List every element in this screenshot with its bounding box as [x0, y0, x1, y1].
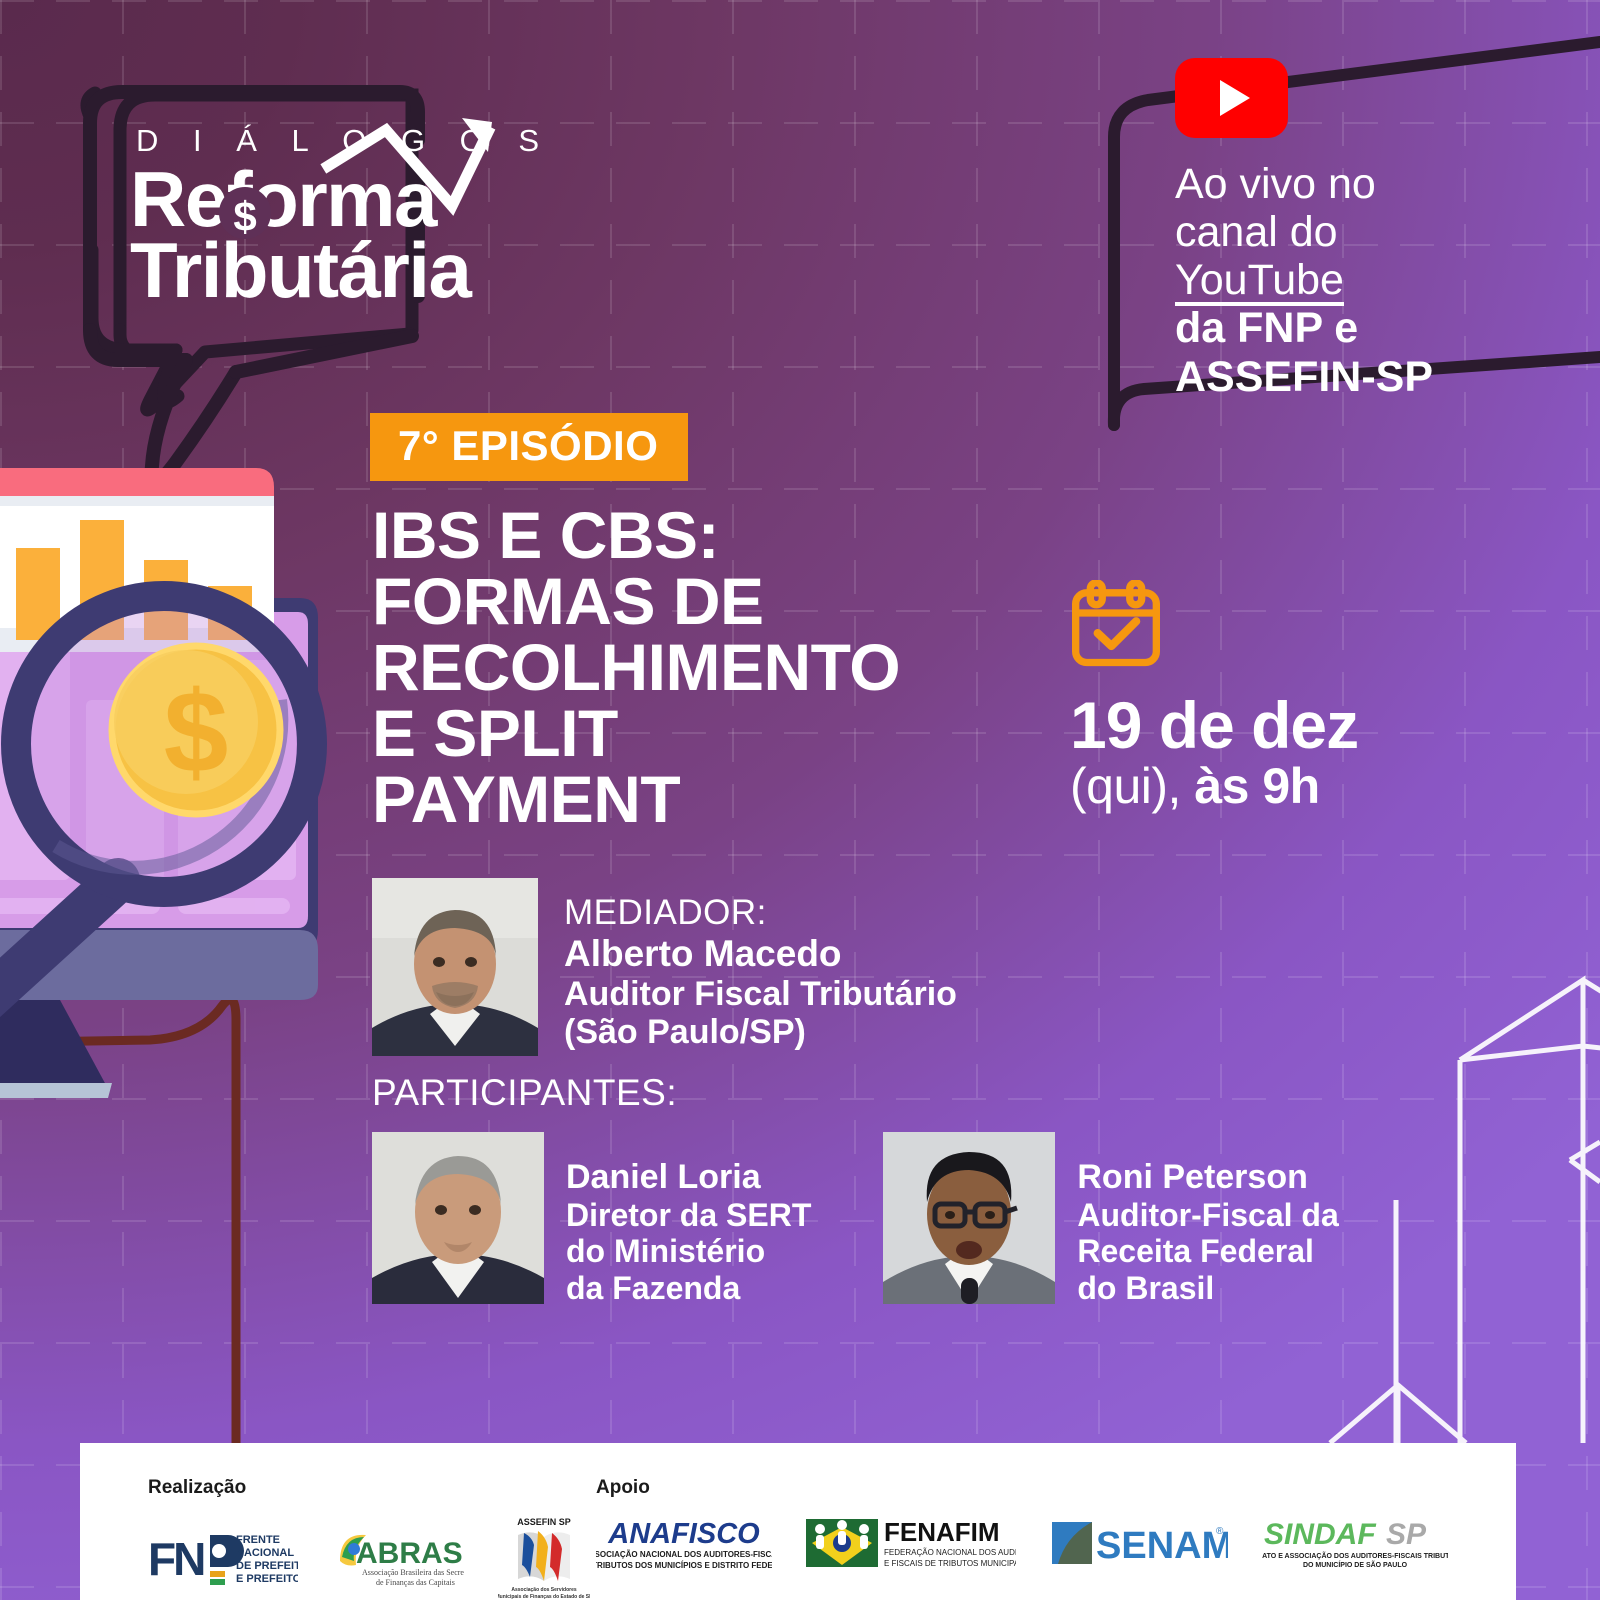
- participants-list: Daniel Loria Diretor da SERT do Ministér…: [372, 1132, 1339, 1306]
- apoio-label: Apoio: [596, 1477, 1448, 1499]
- calendar-check-icon: [1070, 580, 1162, 668]
- participant-role-1: Auditor-Fiscal da: [1077, 1197, 1338, 1233]
- title-line-2: FORMAS DE: [372, 568, 1032, 634]
- sindafsp-logo[interactable]: SINDAF SP SINDICATO E ASSOCIAÇÃO DOS AUD…: [1262, 1516, 1448, 1570]
- svg-text:DO MUNICÍPIO DE SÃO PAULO: DO MUNICÍPIO DE SÃO PAULO: [1303, 1560, 1408, 1569]
- list-item: Daniel Loria Diretor da SERT do Ministér…: [372, 1132, 811, 1306]
- svg-text:SINDICATO E ASSOCIAÇÃO DOS AUD: SINDICATO E ASSOCIAÇÃO DOS AUDITORES-FIS…: [1262, 1551, 1448, 1560]
- participant-text: Roni Peterson Auditor-Fiscal da Receita …: [1077, 1132, 1338, 1306]
- sponsor-footer: Realização FN FRENTE NACIONAL DE PREFEIT…: [80, 1443, 1516, 1600]
- svg-text:E FISCAIS DE TRIBUTOS MUNICIPA: E FISCAIS DE TRIBUTOS MUNICIPAIS: [884, 1559, 1016, 1568]
- play-triangle-icon: [1220, 80, 1250, 116]
- svg-text:SP: SP: [1386, 1518, 1427, 1551]
- participant-role-2: do Ministério: [566, 1233, 811, 1269]
- fnp-logo[interactable]: FN FRENTE NACIONAL DE PREFEITAS E PREFEI…: [148, 1527, 298, 1589]
- youtube-live-block[interactable]: Ao vivo no canal do YouTube da FNP e ASS…: [1175, 58, 1575, 401]
- svg-text:E PREFEITOS: E PREFEITOS: [236, 1573, 298, 1585]
- svg-text:ANAFISCO: ANAFISCO: [607, 1518, 760, 1550]
- youtube-text: Ao vivo no canal do YouTube da FNP e ASS…: [1175, 160, 1575, 401]
- svg-text:DE TRIBUTOS DOS MUNICÍPIOS E D: DE TRIBUTOS DOS MUNICÍPIOS E DISTRITO FE…: [596, 1561, 772, 1570]
- mediator-name: Alberto Macedo: [564, 933, 957, 975]
- event-time: às 9h: [1194, 758, 1319, 814]
- poster-canvas: $ D I Á L O G O S Reforma Tributária $ A…: [0, 0, 1600, 1600]
- participant-role-1: Diretor da SERT: [566, 1197, 811, 1233]
- event-date: 19 de dez: [1070, 691, 1490, 760]
- mediator-text: MEDIADOR: Alberto Macedo Auditor Fiscal …: [564, 878, 957, 1056]
- svg-text:ASSOCIAÇÃO NACIONAL DOS AUDITO: ASSOCIAÇÃO NACIONAL DOS AUDITORES-FISCAI…: [596, 1550, 772, 1559]
- yt-line-5: ASSEFIN-SP: [1175, 353, 1575, 401]
- avatar: [883, 1132, 1055, 1304]
- event-date-block: 19 de dez (qui), às 9h: [1070, 580, 1490, 813]
- assefin-sp-logo[interactable]: ASSEFIN SP Associação dos Servidores Mun…: [498, 1515, 590, 1600]
- participant-role-2: Receita Federal: [1077, 1233, 1338, 1269]
- participant-role-3: do Brasil: [1077, 1270, 1338, 1306]
- anafisco-logo[interactable]: ANAFISCO ASSOCIAÇÃO NACIONAL DOS AUDITOR…: [596, 1515, 772, 1571]
- event-time-row: (qui), às 9h: [1070, 760, 1490, 813]
- senam-logo[interactable]: SENAM ®: [1050, 1518, 1228, 1568]
- mediator-block: MEDIADOR: Alberto Macedo Auditor Fiscal …: [372, 878, 957, 1056]
- page-title: IBS E CBS: FORMAS DE RECOLHIMENTO E SPLI…: [372, 502, 1032, 832]
- svg-text:Associação dos Servidores: Associação dos Servidores: [511, 1587, 577, 1593]
- svg-text:ABRASF: ABRASF: [356, 1537, 464, 1570]
- svg-text:Associação Brasileira das Secr: Associação Brasileira das Secretarias: [362, 1568, 464, 1577]
- brand-kicker: D I Á L O G O S: [136, 125, 560, 156]
- realizacao-group: Realização FN FRENTE NACIONAL DE PREFEIT…: [148, 1477, 590, 1600]
- youtube-play-icon[interactable]: [1175, 58, 1288, 138]
- event-weekday: (qui),: [1070, 758, 1181, 814]
- brand-line-2: Tributária: [130, 233, 560, 308]
- daniel-loria-photo: [372, 1132, 544, 1304]
- avatar: [372, 1132, 544, 1304]
- apoio-group: Apoio ANAFISCO ASSOCIAÇÃO NACIONAL DOS A…: [596, 1477, 1448, 1571]
- participant-text: Daniel Loria Diretor da SERT do Ministér…: [566, 1132, 811, 1306]
- participant-name: Daniel Loria: [566, 1158, 811, 1197]
- title-line-4: E SPLIT: [372, 700, 1032, 766]
- alberto-macedo-photo: [372, 878, 538, 1056]
- svg-text:FN: FN: [148, 1533, 204, 1585]
- svg-text:Municipais de Finanças do Esta: Municipais de Finanças do Estado de SP: [498, 1594, 590, 1600]
- mediator-role-1: Auditor Fiscal Tributário: [564, 975, 957, 1014]
- svg-text:FRENTE: FRENTE: [236, 1534, 280, 1546]
- realizacao-label: Realização: [148, 1477, 590, 1499]
- title-line-5: PAYMENT: [372, 766, 1032, 832]
- fenafim-logo[interactable]: FENAFIM FEDERAÇÃO NACIONAL DOS AUDITORES…: [806, 1515, 1016, 1571]
- participants-label: PARTICIPANTES:: [372, 1072, 677, 1114]
- yt-line-4: da FNP e: [1175, 304, 1575, 352]
- yt-channel-link[interactable]: YouTube: [1175, 256, 1575, 304]
- brand-logo: D I Á L O G O S Reforma Tributária: [130, 125, 560, 308]
- mediator-role-2: (São Paulo/SP): [564, 1013, 957, 1052]
- realizacao-logos: FN FRENTE NACIONAL DE PREFEITAS E PREFEI…: [148, 1515, 590, 1600]
- svg-text:DE PREFEITAS: DE PREFEITAS: [236, 1560, 298, 1572]
- svg-text:SENAM: SENAM: [1096, 1525, 1228, 1567]
- svg-text:FEDERAÇÃO NACIONAL DOS AUDITOR: FEDERAÇÃO NACIONAL DOS AUDITORES: [884, 1548, 1016, 1557]
- svg-text:de Finanças das Capitais: de Finanças das Capitais: [376, 1578, 455, 1587]
- episode-badge: 7° EPISÓDIO: [370, 413, 688, 481]
- participant-role-3: da Fazenda: [566, 1270, 811, 1306]
- svg-text:SINDAF: SINDAF: [1264, 1518, 1376, 1551]
- svg-text:FENAFIM: FENAFIM: [884, 1517, 1000, 1547]
- abrasf-logo[interactable]: ABRASF Associação Brasileira das Secreta…: [332, 1527, 464, 1589]
- svg-text:NACIONAL: NACIONAL: [236, 1547, 294, 1559]
- roni-peterson-photo: [883, 1132, 1055, 1304]
- apoio-logos: ANAFISCO ASSOCIAÇÃO NACIONAL DOS AUDITOR…: [596, 1515, 1448, 1571]
- list-item: Roni Peterson Auditor-Fiscal da Receita …: [883, 1132, 1338, 1306]
- title-line-1: IBS E CBS:: [372, 502, 1032, 568]
- yt-line-2: canal do: [1175, 208, 1575, 256]
- title-line-3: RECOLHIMENTO: [372, 634, 1032, 700]
- svg-text:®: ®: [1216, 1526, 1224, 1537]
- participant-name: Roni Peterson: [1077, 1158, 1338, 1197]
- yt-line-1: Ao vivo no: [1175, 160, 1575, 208]
- mediator-label: MEDIADOR:: [564, 894, 957, 933]
- avatar: [372, 878, 538, 1056]
- svg-text:ASSEFIN SP: ASSEFIN SP: [517, 1517, 571, 1527]
